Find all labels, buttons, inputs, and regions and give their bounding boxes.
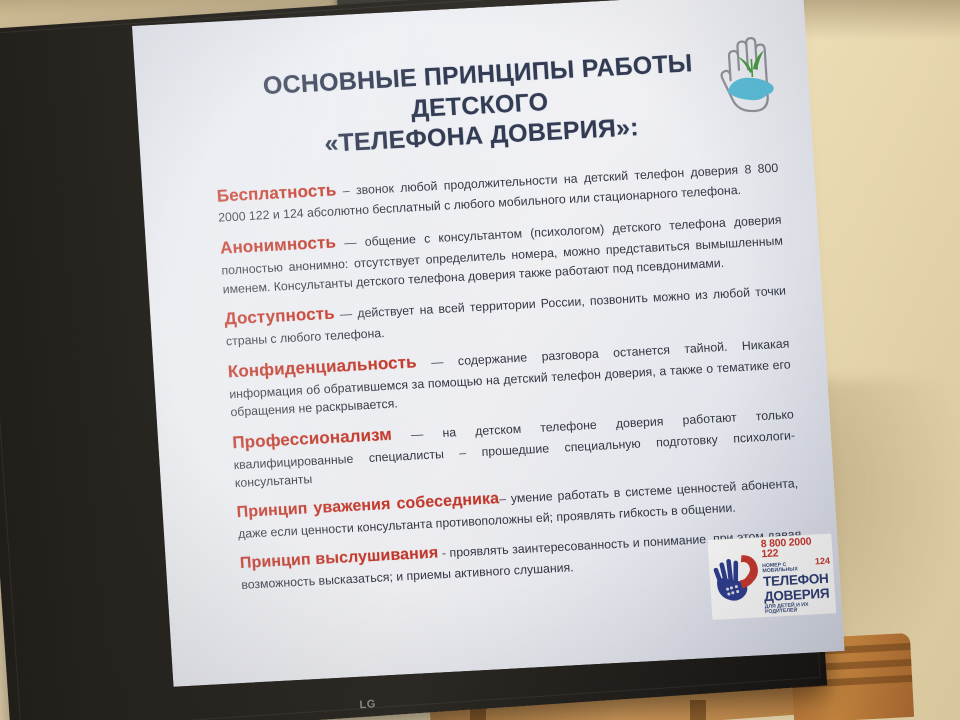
trust-logo-subtitle: ДЛЯ ДЕТЕЙ И ИХ РОДИТЕЛЕЙ [765,602,834,616]
table-leg [690,700,706,720]
tv-brand-label: LG [359,698,376,711]
slide-title: ОСНОВНЫЕ ПРИНЦИПЫ РАБОТЫ ДЕТСКОГО «ТЕЛЕФ… [209,44,776,165]
photo-scene: LG ОСНОВНЫЕ ПРИНЦИПЫ РАБОТЫ ДЕТСКОГО «ТЕ… [0,0,960,720]
principle-term: Доступность [224,304,335,329]
presentation-slide: ОСНОВНЫЕ ПРИНЦИПЫ РАБОТЫ ДЕТСКОГО «ТЕЛЕФ… [132,0,845,687]
trust-phone-logo: 8 800 2000 122 НОМЕР С МОБИЛЬНЫХ 124 ТЕЛ… [707,533,836,619]
principle-term: Профессионализм [232,425,393,452]
principle-term: Анонимность [220,232,337,257]
principle-term: Конфиденциальность [227,352,417,381]
trust-logo-mobile-number: 124 [815,556,831,566]
principles-list: Бесплатность – звонок любой продолжитель… [216,153,803,595]
hand-crimea-emblem-icon [709,27,793,123]
hand-and-handset-icon [711,551,762,605]
principle-term: Бесплатность [216,180,337,205]
trust-logo-title-line2: ДОВЕРИЯ [764,586,833,603]
